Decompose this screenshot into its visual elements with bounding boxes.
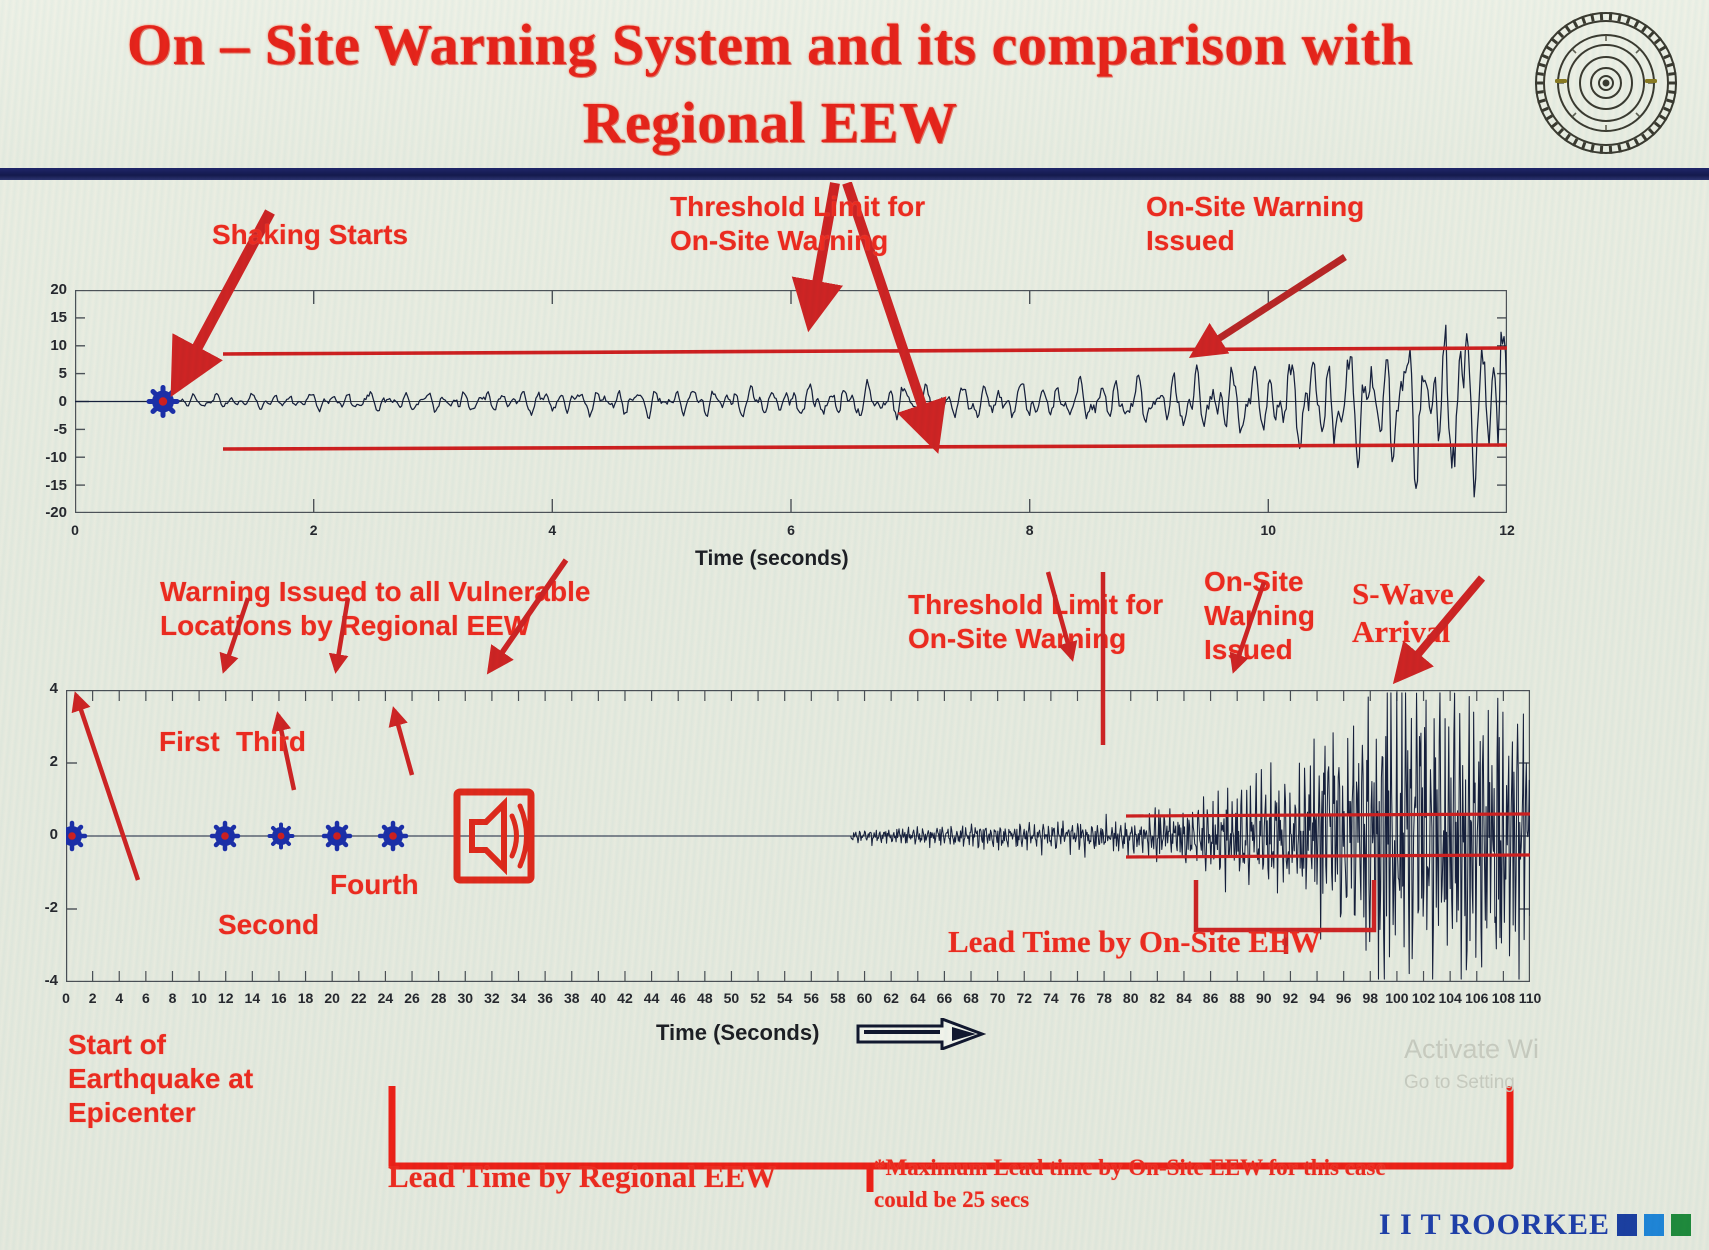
xtick-bottom-34: 34 <box>511 990 527 1006</box>
iit-roorkee-emblem-icon <box>1531 8 1681 158</box>
annotation-regional-warning: Warning Issued to all Vulnerable Locatio… <box>160 575 780 643</box>
annotation-third: Third <box>236 725 306 759</box>
annotation-start-of-earthquake: Start of Earthquake at Epicenter <box>68 1028 328 1130</box>
xtick-bottom-44: 44 <box>644 990 660 1006</box>
xtick-bottom-10: 10 <box>191 990 207 1006</box>
ytick-top-m10: -10 <box>27 449 67 466</box>
xtick-bottom-48: 48 <box>697 990 713 1006</box>
threshold-line-upper-bottom-chart <box>1126 814 1530 816</box>
annotation-second: Second <box>218 908 319 942</box>
xtick-bottom-52: 52 <box>750 990 766 1006</box>
ytick-top-m20: -20 <box>27 504 67 521</box>
xtick-bottom-30: 30 <box>457 990 473 1006</box>
slide-canvas: On – Site Warning System and its compari… <box>0 0 1709 1250</box>
xtick-bottom-66: 66 <box>937 990 953 1006</box>
annotation-onsite-warning-issued-bottom: On-Site Warning Issued <box>1204 565 1334 667</box>
threshold-line-upper-top-chart <box>223 348 1507 354</box>
xtick-bottom-108: 108 <box>1492 990 1515 1006</box>
xtick-bottom-2: 2 <box>89 990 97 1006</box>
xaxis-label-bottom-chart: Time (Seconds) <box>656 1020 819 1046</box>
xtick-bottom-54: 54 <box>777 990 793 1006</box>
xtick-bottom-76: 76 <box>1070 990 1086 1006</box>
marker-third-icon <box>324 823 350 849</box>
xtick-bottom-20: 20 <box>324 990 340 1006</box>
xtick-bottom-84: 84 <box>1176 990 1192 1006</box>
ytick-top-5: 5 <box>27 365 67 382</box>
xtick-top-12: 12 <box>1499 522 1515 538</box>
xtick-bottom-8: 8 <box>169 990 177 1006</box>
xtick-top-6: 6 <box>787 522 795 538</box>
xtick-bottom-102: 102 <box>1412 990 1435 1006</box>
threshold-line-lower-bottom-chart <box>1126 855 1530 857</box>
annotation-s-wave-arrival: S-Wave Arrival <box>1352 575 1522 651</box>
xtick-bottom-46: 46 <box>670 990 686 1006</box>
time-direction-arrow-icon <box>856 1018 986 1050</box>
brand-square-green-icon <box>1671 1214 1691 1236</box>
xtick-top-10: 10 <box>1261 522 1277 538</box>
xtick-bottom-6: 6 <box>142 990 150 1006</box>
xtick-bottom-100: 100 <box>1385 990 1408 1006</box>
ytick-bot-2: 2 <box>22 753 58 770</box>
marker-fourth-icon <box>380 823 406 849</box>
ytick-bot-4: 4 <box>22 680 58 697</box>
brand-square-dark-icon <box>1617 1214 1637 1236</box>
xtick-bottom-28: 28 <box>431 990 447 1006</box>
xtick-bottom-60: 60 <box>857 990 873 1006</box>
xtick-bottom-62: 62 <box>883 990 899 1006</box>
xtick-bottom-74: 74 <box>1043 990 1059 1006</box>
xtick-top-8: 8 <box>1026 522 1034 538</box>
marker-second-icon <box>270 825 293 848</box>
xtick-bottom-94: 94 <box>1309 990 1325 1006</box>
xtick-top-0: 0 <box>71 522 79 538</box>
xtick-bottom-18: 18 <box>298 990 314 1006</box>
xtick-bottom-38: 38 <box>564 990 580 1006</box>
top-accelerogram-chart: 20 15 10 5 0 -5 -10 -15 -20 0 2 4 6 8 10… <box>75 290 1507 513</box>
xtick-bottom-12: 12 <box>218 990 234 1006</box>
xtick-bottom-42: 42 <box>617 990 633 1006</box>
xtick-bottom-40: 40 <box>591 990 607 1006</box>
ytick-bot-m2: -2 <box>22 899 58 916</box>
marker-epicenter-icon <box>66 823 85 849</box>
watermark-line-1: Activate Wi <box>1404 1032 1539 1066</box>
ytick-top-m5: -5 <box>27 421 67 438</box>
annotation-threshold-limit-top: Threshold Limit for On-Site Warning <box>670 190 925 258</box>
header-divider <box>0 168 1709 180</box>
threshold-line-lower-top-chart <box>223 445 1507 449</box>
xtick-bottom-4: 4 <box>115 990 123 1006</box>
xtick-bottom-96: 96 <box>1336 990 1352 1006</box>
xtick-bottom-26: 26 <box>404 990 420 1006</box>
xtick-bottom-68: 68 <box>963 990 979 1006</box>
ytick-top-20: 20 <box>27 281 67 298</box>
xtick-bottom-90: 90 <box>1256 990 1272 1006</box>
annotation-lead-time-regional: Lead Time by Regional EEW <box>388 1160 776 1194</box>
xtick-top-2: 2 <box>310 522 318 538</box>
xtick-bottom-22: 22 <box>351 990 367 1006</box>
slide-header: On – Site Warning System and its compari… <box>0 0 1709 172</box>
annotation-fourth: Fourth <box>330 868 419 902</box>
xtick-bottom-0: 0 <box>62 990 70 1006</box>
xtick-bottom-14: 14 <box>245 990 261 1006</box>
ytick-top-0: 0 <box>27 393 67 410</box>
xtick-bottom-16: 16 <box>271 990 287 1006</box>
marker-first-icon <box>212 823 238 849</box>
xtick-labels-bottom-chart: 0246810121416182022242628303234363840424… <box>66 990 1530 1014</box>
xtick-bottom-56: 56 <box>804 990 820 1006</box>
xaxis-label-top-chart: Time (seconds) <box>695 547 849 571</box>
footer-brand-text: I I T ROORKEE <box>1379 1208 1610 1242</box>
ytick-top-m15: -15 <box>27 477 67 494</box>
xtick-bottom-72: 72 <box>1016 990 1032 1006</box>
annotation-lead-time-onsite: Lead Time by On-Site EEW <box>948 925 1321 959</box>
page-title: On – Site Warning System and its compari… <box>120 6 1420 162</box>
xtick-bottom-98: 98 <box>1362 990 1378 1006</box>
xtick-bottom-92: 92 <box>1283 990 1299 1006</box>
ytick-bot-m4: -4 <box>22 972 58 989</box>
ytick-bot-0: 0 <box>22 826 58 843</box>
ytick-top-10: 10 <box>27 337 67 354</box>
xtick-bottom-104: 104 <box>1438 990 1461 1006</box>
annotation-threshold-limit-bottom: Threshold Limit for On-Site Warning <box>908 588 1188 656</box>
annotation-first: First <box>159 725 220 759</box>
annotation-onsite-warning-issued-top: On-Site Warning Issued <box>1146 190 1364 258</box>
xtick-bottom-80: 80 <box>1123 990 1139 1006</box>
xtick-bottom-64: 64 <box>910 990 926 1006</box>
annotation-shaking-starts: Shaking Starts <box>212 218 408 252</box>
xtick-top-4: 4 <box>548 522 556 538</box>
xtick-bottom-58: 58 <box>830 990 846 1006</box>
ytick-top-15: 15 <box>27 309 67 326</box>
xtick-bottom-70: 70 <box>990 990 1006 1006</box>
xtick-bottom-50: 50 <box>724 990 740 1006</box>
xtick-bottom-110: 110 <box>1519 990 1542 1006</box>
xtick-bottom-82: 82 <box>1150 990 1166 1006</box>
xtick-bottom-24: 24 <box>378 990 394 1006</box>
xtick-bottom-86: 86 <box>1203 990 1219 1006</box>
xtick-bottom-88: 88 <box>1229 990 1245 1006</box>
shaking-start-marker-icon <box>149 388 177 416</box>
xtick-bottom-32: 32 <box>484 990 500 1006</box>
xtick-bottom-106: 106 <box>1465 990 1488 1006</box>
brand-square-blue-icon <box>1644 1214 1664 1236</box>
annotation-footnote: *Maximum Lead time by On-Site EEW for th… <box>874 1152 1474 1216</box>
xtick-bottom-36: 36 <box>537 990 553 1006</box>
footer-brand: I I T ROORKEE <box>1379 1208 1691 1242</box>
xtick-bottom-78: 78 <box>1096 990 1112 1006</box>
